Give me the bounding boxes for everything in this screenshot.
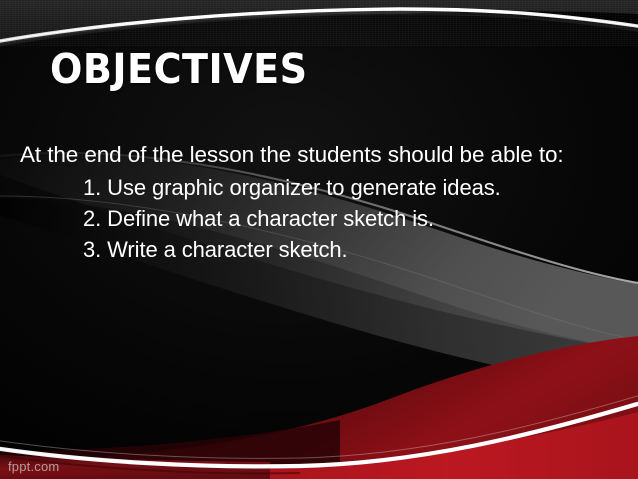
fppt-watermark: fppt.com [8,459,59,475]
objectives-list: 1. Use graphic organizer to generate ide… [0,172,638,265]
slide-content: OBJECTIVES At the end of the lesson the … [0,0,638,479]
presentation-slide: OBJECTIVES At the end of the lesson the … [0,0,638,479]
list-item: 1. Use graphic organizer to generate ide… [0,172,638,203]
page-title: OBJECTIVES [50,49,308,90]
list-item: 2. Define what a character sketch is. [0,203,638,234]
lead-sentence: At the end of the lesson the students sh… [0,140,638,170]
list-item: 3. Write a character sketch. [0,234,638,265]
objectives-body: At the end of the lesson the students sh… [0,140,638,265]
